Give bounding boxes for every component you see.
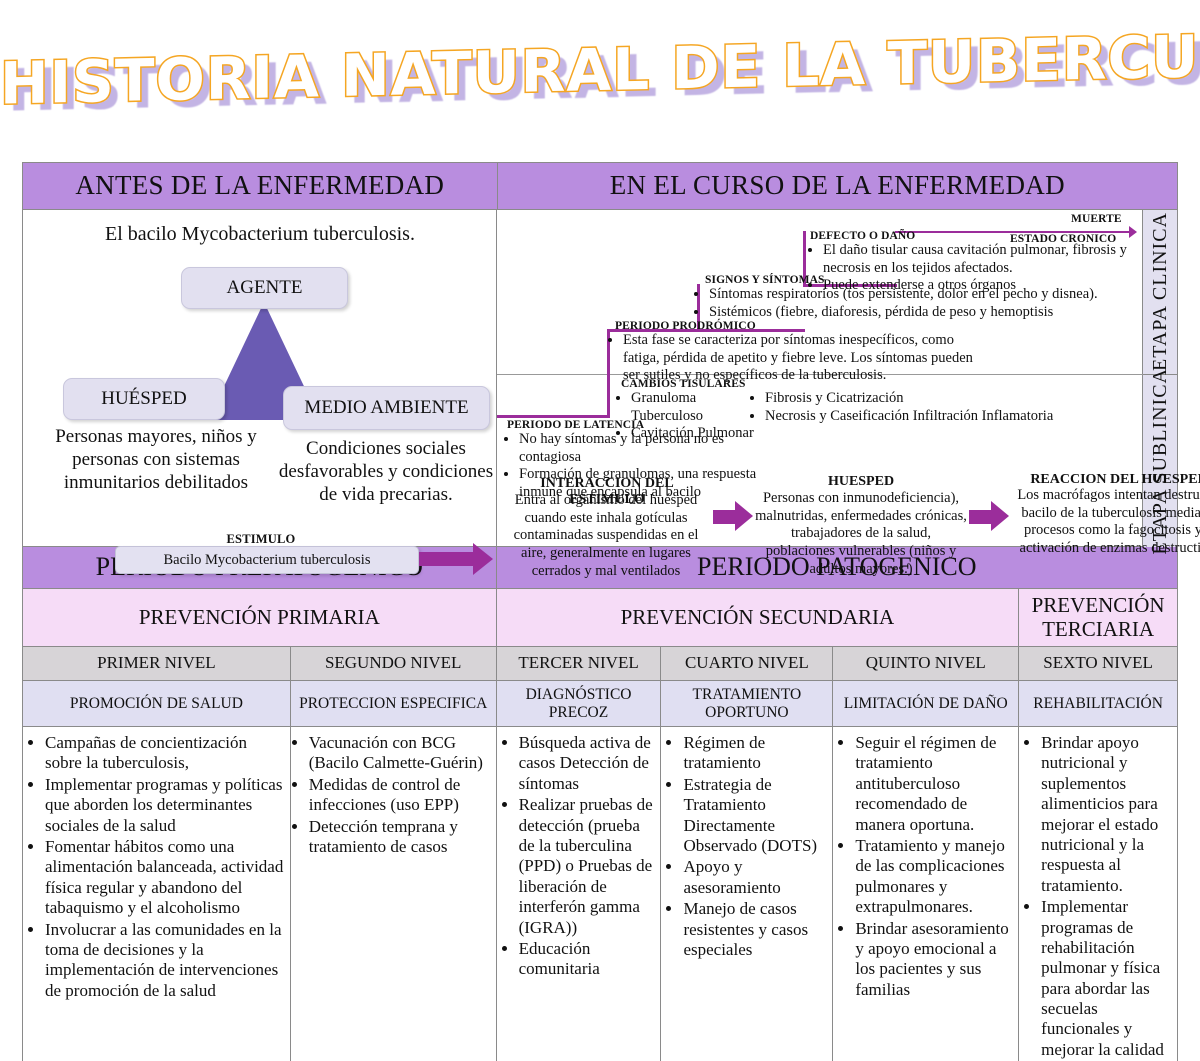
arrow-estimulo-shaft [419,552,473,566]
medio-description: Condiciones sociales desfavorables y con… [271,438,501,506]
contenido-row: Campañas de concientización sobre la tub… [23,727,1177,1061]
arrow-reaccion-shaft [969,510,991,524]
nivel-sexto: SEXTO NIVEL [1019,647,1177,681]
prevencion-secundaria: PREVENCIÓN SECUNDARIA [497,589,1020,647]
estimulo-label: ESTIMULO [123,532,399,547]
reaccion-text: Los macrófagos intentan destruir el baci… [1017,487,1200,558]
nivel-segundo: SEGUNDO NIVEL [291,647,497,681]
list-item: Búsqueda activa de casos Detección de sí… [519,733,656,794]
list-item: Apoyo y asesoramiento [683,857,827,898]
accion-tratamiento-oportuno: TRATAMIENTO OPORTUNO [661,681,833,727]
defecto-label: DEFECTO O DAÑO [810,230,915,242]
main-table: ANTES DE LA ENFERMEDAD EN EL CURSO DE LA… [22,162,1178,1061]
prodromico-label: PERIODO PRODRÓMICO [615,320,756,332]
arrow-reaccion-head [991,501,1009,531]
arrow-huesped-head [735,501,753,531]
list-item: Educación comunitaria [519,939,656,980]
interaccion-text: Entra al organismo del huésped cuando es… [501,492,711,580]
list-item: Manejo de casos resistentes y casos espe… [683,899,827,960]
prevencion-row: PREVENCIÓN PRIMARIA PREVENCIÓN SECUNDARI… [23,589,1177,647]
nivel-quinto: QUINTO NIVEL [833,647,1019,681]
course-panel: ETAPA CLINICA ETAPA SUBLINICA MUERTE EST… [497,210,1177,546]
list-item: Necrosis y Caseificación Infiltración In… [765,408,1139,426]
list-item: Detección temprana y tratamiento de caso… [309,817,491,858]
nivel-primer: PRIMER NIVEL [23,647,291,681]
huesped-col-text: Personas con inmunodeficiencia), malnutr… [755,490,967,578]
latencia-label: PERIODO DE LATENCIA [507,419,644,431]
list-item: Fomentar hábitos como una alimentación b… [45,837,285,919]
list-item: Granuloma Tuberculoso [631,390,763,425]
triad-panel: El bacilo Mycobacterium tuberculosis. AG… [23,210,497,546]
accion-proteccion-especifica: PROTECCION ESPECIFICA [291,681,497,727]
node-agente: AGENTE [181,267,348,309]
header-antes-enfermedad: ANTES DE LA ENFERMEDAD [23,163,498,210]
contenido-col-3: Búsqueda activa de casos Detección de sí… [497,727,662,1061]
accion-rehabilitacion: REHABILITACIÓN [1019,681,1177,727]
agent-description: El bacilo Mycobacterium tuberculosis. [23,222,497,246]
list-item: Implementar programas de rehabilitación … [1041,897,1172,1061]
node-huesped: HUÉSPED [63,378,225,420]
page-title-text: HISTORIA NATURAL DE LA TUBERCULOSIS [0,22,1200,117]
page-title: HISTORIA NATURAL DE LA TUBERCULOSIS HIST… [0,36,1200,131]
upper-body-row: El bacilo Mycobacterium tuberculosis. AG… [23,210,1177,546]
step-cambios-vline [607,375,610,418]
contenido-col-1: Campañas de concientización sobre la tub… [23,727,291,1061]
list-item: Vacunación con BCG (Bacilo Calmette-Guér… [309,733,491,774]
header-curso-enfermedad: EN EL CURSO DE LA ENFERMEDAD [498,163,1177,210]
list-item: Medidas de control de infecciones (uso E… [309,775,491,816]
infographic-page: HISTORIA NATURAL DE LA TUBERCULOSIS HIST… [0,0,1200,1061]
huesped-col-label: HUESPED [761,474,961,490]
list-item: Involucrar a las comunidades en la toma … [45,920,285,1002]
signos-items: Síntomas respiratorios (tos persistente,… [693,286,1143,321]
accion-promocion-salud: PROMOCIÓN DE SALUD [23,681,291,727]
etapa-clinica-band: ETAPA CLINICA [1142,210,1177,374]
list-item: Brindar asesoramiento y apoyo emocional … [855,919,1013,1001]
prevencion-terciaria: PREVENCIÓN TERCIARIA [1019,589,1177,647]
muerte-label: MUERTE [1071,213,1122,225]
list-item: Tratamiento y manejo de las complicacion… [855,836,1013,918]
step-latencia-vline [497,415,511,418]
list-item: Seguir el régimen de tratamiento antitub… [855,733,1013,835]
estimulo-box: Bacilo Mycobacterium tuberculosis [115,546,419,574]
muerte-arrow-head [1129,226,1137,238]
signos-label: SIGNOS Y SÍNTOMAS [705,274,825,286]
nivel-tercer: TERCER NIVEL [497,647,662,681]
accion-diagnostico-precoz: DIAGNÓSTICO PRECOZ [497,681,662,727]
top-header-row: ANTES DE LA ENFERMEDAD EN EL CURSO DE LA… [23,163,1177,210]
contenido-col-6: Brindar apoyo nutricional y suplementos … [1019,727,1177,1061]
niveles-row: PRIMER NIVEL SEGUNDO NIVEL TERCER NIVEL … [23,647,1177,681]
list-item: Realizar pruebas de detección (prueba de… [519,795,656,938]
cambios-label: CAMBIOS TISULARES [621,378,746,390]
list-item: Implementar programas y políticas que ab… [45,775,285,836]
accion-limitacion-dano: LIMITACIÓN DE DAÑO [833,681,1019,727]
list-item: Brindar apoyo nutricional y suplementos … [1041,733,1172,896]
contenido-col-2: Vacunación con BCG (Bacilo Calmette-Guér… [291,727,497,1061]
node-medio-ambiente: MEDIO AMBIENTE [283,386,490,430]
list-item: El daño tisular causa cavitación pulmona… [823,242,1147,277]
list-item: Sistémicos (fiebre, diaforesis, pérdida … [709,304,1143,322]
list-item: Régimen de tratamiento [683,733,827,774]
acciones-row: PROMOCIÓN DE SALUD PROTECCION ESPECIFICA… [23,681,1177,727]
huesped-description: Personas mayores, niños y personas con s… [41,426,271,494]
list-item: Fibrosis y Cicatrización [765,390,1139,408]
list-item: Síntomas respiratorios (tos persistente,… [709,286,1143,304]
step-cambios-hline [509,415,610,418]
cambios-col2: Fibrosis y Cicatrización Necrosis y Case… [749,390,1139,425]
prevencion-primaria: PREVENCIÓN PRIMARIA [23,589,497,647]
etapa-clinica-label: ETAPA CLINICA [1149,212,1172,371]
list-item: No hay síntomas y la persona no es conta… [519,431,785,466]
arrow-huesped-shaft [713,510,735,524]
nivel-cuarto: CUARTO NIVEL [661,647,833,681]
arrow-estimulo-head [473,543,493,575]
contenido-col-5: Seguir el régimen de tratamiento antitub… [833,727,1019,1061]
contenido-col-4: Régimen de tratamiento Estrategia de Tra… [661,727,833,1061]
list-item: Estrategia de Tratamiento Directamente O… [683,775,827,857]
list-item: Campañas de concientización sobre la tub… [45,733,285,774]
reaccion-label: REACCION DEL HUESPED [1015,472,1200,488]
